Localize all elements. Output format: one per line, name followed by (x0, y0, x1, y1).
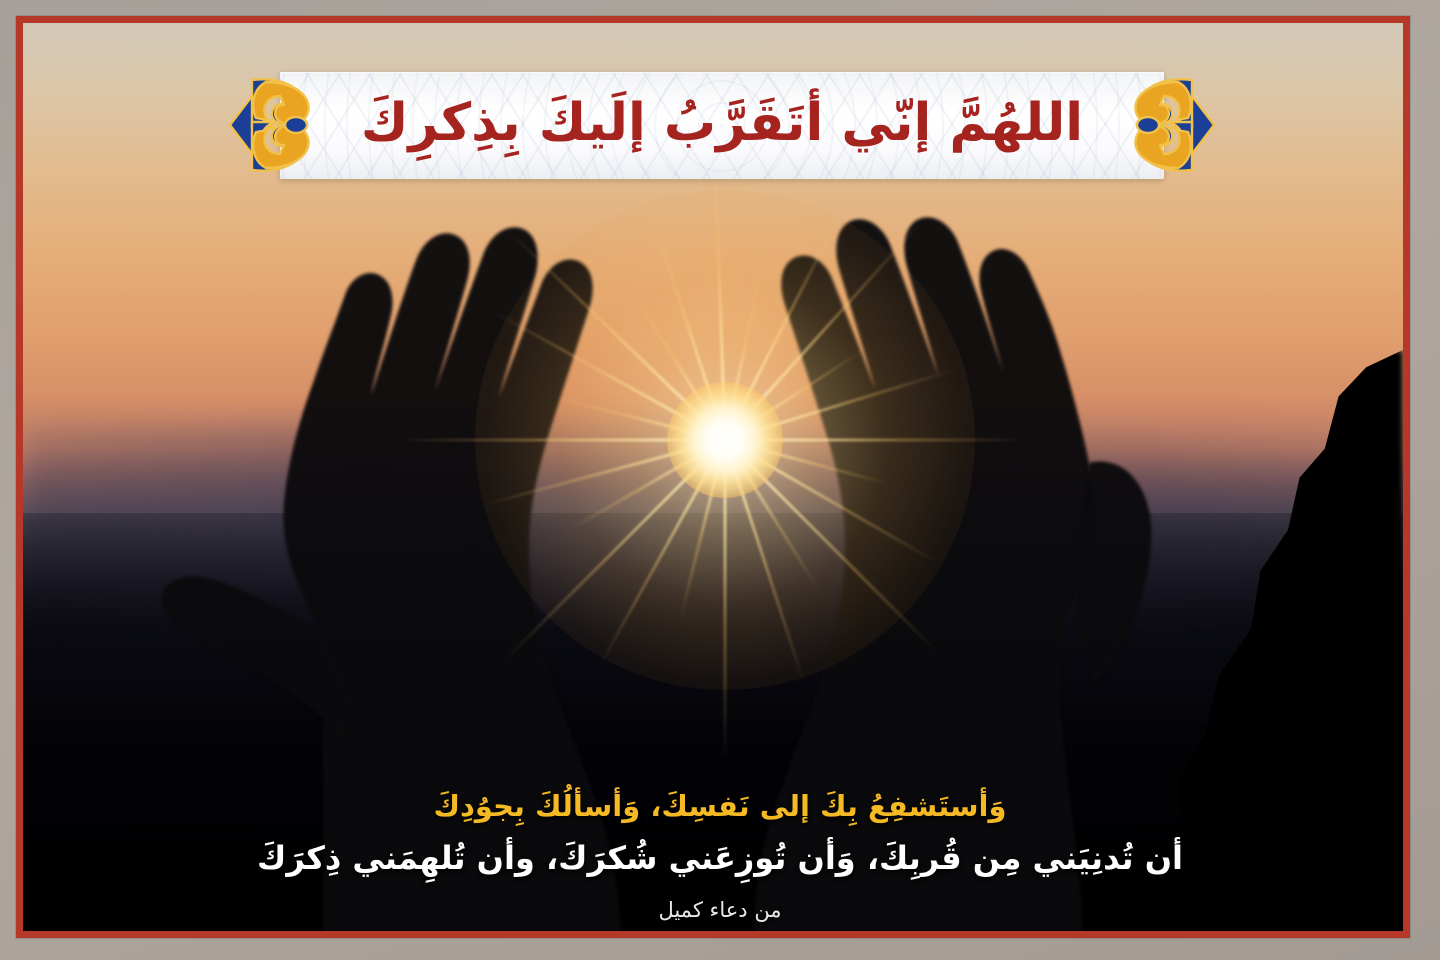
verse-block: وَأستَشفِعُ بِكَ إلى نَفسِكَ، وَأسألُكَ … (0, 785, 1440, 923)
headline-banner: اللهُمَّ إنّي أتَقَرَّبُ إلَيكَ بِذِكرِك… (222, 66, 1222, 184)
poster-root: اللهُمَّ إنّي أتَقَرَّبُ إلَيكَ بِذِكرِك… (0, 0, 1440, 960)
verse-line-2: أن تُدنِيَني مِن قُربِكَ، وَأن تُوزِعَني… (0, 834, 1440, 882)
arabesque-ornament-left-icon (222, 66, 340, 184)
banner-headline-text: اللهُمَّ إنّي أتَقَرَّبُ إلَيكَ بِذِكرِك… (280, 72, 1164, 178)
arabesque-ornament-right-icon (1104, 66, 1222, 184)
verse-attribution: من دعاء كميل (0, 898, 1440, 922)
verse-line-1: وَأستَشفِعُ بِكَ إلى نَفسِكَ، وَأسألُكَ … (0, 785, 1440, 829)
sun-core (667, 382, 783, 498)
